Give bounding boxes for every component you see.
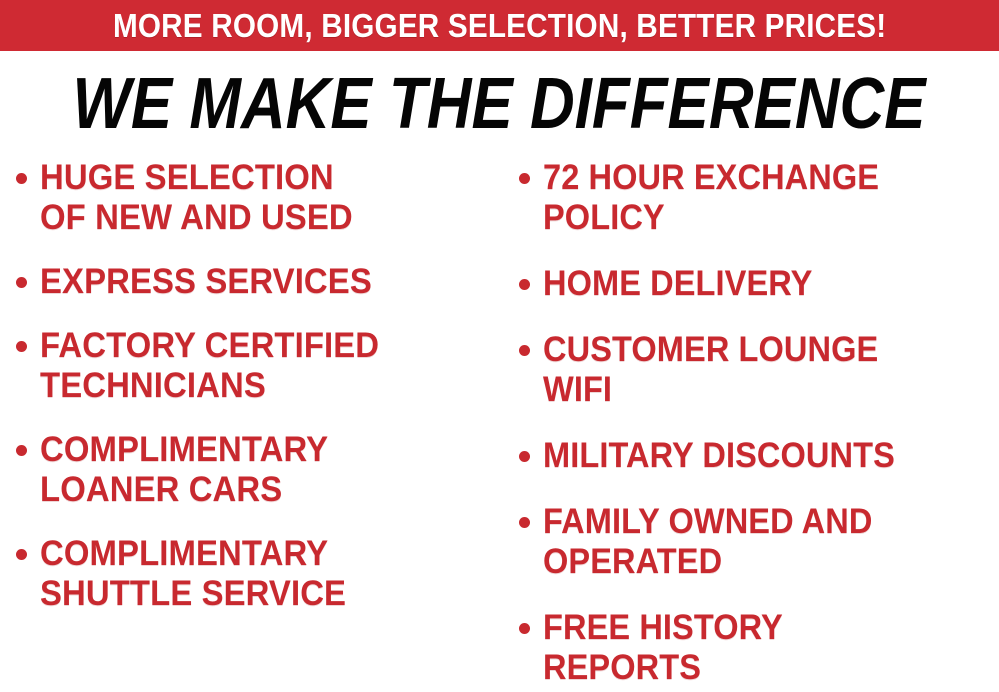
page-title: WE MAKE THE DIFFERENCE [73,67,926,141]
list-item: CUSTOMER LOUNGE WIFI [519,330,999,410]
list-item-label: FACTORY CERTIFIED TECHNICIANS [40,326,379,406]
list-item: HUGE SELECTION OF NEW AND USED [16,158,505,238]
list-item-label: COMPLIMENTARY SHUTTLE SERVICE [40,534,346,614]
promotional-poster: MORE ROOM, BIGGER SELECTION, BETTER PRIC… [0,0,999,692]
list-item-label: HUGE SELECTION OF NEW AND USED [40,158,353,238]
bullet-dot-icon [519,173,530,184]
top-banner: MORE ROOM, BIGGER SELECTION, BETTER PRIC… [0,0,999,51]
bullet-dot-icon [519,451,530,462]
list-item: COMPLIMENTARY SHUTTLE SERVICE [16,534,505,614]
benefits-column-right: 72 HOUR EXCHANGE POLICY HOME DELIVERY CU… [505,158,999,692]
bullet-dot-icon [519,623,530,634]
bullet-dot-icon [519,279,530,290]
bullet-dot-icon [519,517,530,528]
list-item-label: 72 HOUR EXCHANGE POLICY [543,158,879,238]
main-headline-container: WE MAKE THE DIFFERENCE [0,60,999,148]
list-item: FACTORY CERTIFIED TECHNICIANS [16,326,505,406]
list-item-label: HOME DELIVERY [543,264,812,304]
list-item-label: COMPLIMENTARY LOANER CARS [40,430,328,510]
benefits-column-left: HUGE SELECTION OF NEW AND USED EXPRESS S… [0,158,505,692]
list-item: EXPRESS SERVICES [16,262,505,302]
list-item: COMPLIMENTARY LOANER CARS [16,430,505,510]
bullet-dot-icon [16,445,27,456]
benefits-columns: HUGE SELECTION OF NEW AND USED EXPRESS S… [0,158,999,692]
list-item: MILITARY DISCOUNTS [519,436,999,476]
bullet-dot-icon [16,549,27,560]
list-item-label: FAMILY OWNED AND OPERATED [543,502,872,582]
list-item-label: CUSTOMER LOUNGE WIFI [543,330,878,410]
list-item-label: MILITARY DISCOUNTS [543,436,895,476]
bullet-dot-icon [16,277,27,288]
bullet-dot-icon [16,173,27,184]
bullet-dot-icon [16,341,27,352]
list-item-label: FREE HISTORY REPORTS [543,608,783,688]
list-item: HOME DELIVERY [519,264,999,304]
list-item: FREE HISTORY REPORTS [519,608,999,688]
bullet-dot-icon [519,345,530,356]
banner-headline-text: MORE ROOM, BIGGER SELECTION, BETTER PRIC… [113,9,886,43]
list-item-label: EXPRESS SERVICES [40,262,372,302]
list-item: 72 HOUR EXCHANGE POLICY [519,158,999,238]
list-item: FAMILY OWNED AND OPERATED [519,502,999,582]
